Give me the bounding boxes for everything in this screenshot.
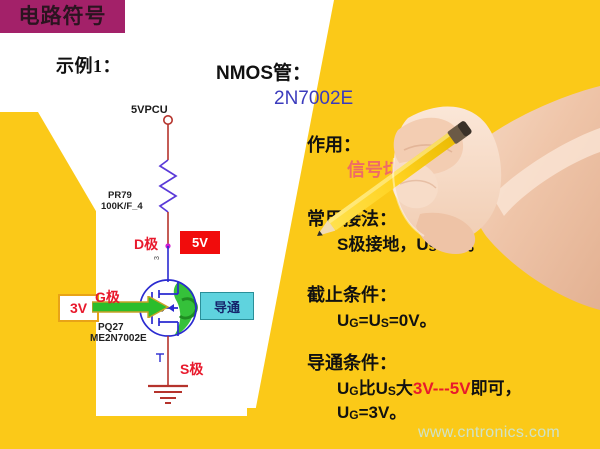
device-title: NMOS管： <box>216 58 311 85</box>
usage-value: S极接地，US=0V。 <box>337 230 484 255</box>
cutoff-tail: =0V。 <box>389 311 437 330</box>
role-heading: 作用： <box>307 131 361 157</box>
on-range-dash: --- <box>433 379 450 398</box>
svg-text:3: 3 <box>154 256 161 260</box>
slide-canvas: 电路符号 示例1： 3 <box>0 0 600 449</box>
drain-terminal-label: D极 <box>134 234 158 254</box>
on-subscript-g: G <box>349 384 358 398</box>
usage-heading: 常用接法： <box>307 205 397 231</box>
cutoff-u2: U <box>369 311 381 330</box>
drain-voltage-badge: 5V <box>180 231 220 254</box>
conduction-state-badge: 导通 <box>200 292 254 320</box>
conduction-heading: 导通条件： <box>307 349 397 375</box>
resistor-ref-label: PR79 <box>108 190 132 201</box>
cutoff-subscript-s: S <box>381 316 389 330</box>
header-badge-label: 电路符号 <box>19 6 107 27</box>
conduction-value-line2: UG=3V。 <box>337 398 406 423</box>
cutoff-value: UG=US=0V。 <box>337 306 437 331</box>
on-range-high: 5V <box>450 379 471 398</box>
drain-voltage-value: 5V <box>192 235 208 250</box>
part-number-label: ME2N7002E <box>90 333 147 344</box>
source-terminal-label: S极 <box>180 359 203 379</box>
net-label-vcc: 5VPCU <box>131 104 168 116</box>
usage-u: U <box>416 235 428 254</box>
header-badge: 电路符号 <box>0 0 125 33</box>
on-mid2: 大 <box>396 379 413 398</box>
cutoff-u1: U <box>337 311 349 330</box>
on2-tail: =3V。 <box>359 403 407 422</box>
on-range-low: 3V <box>413 379 433 398</box>
part-ref-label: PQ27 <box>98 322 124 333</box>
conduction-value-line1: UG比US大3V---5V即可， <box>337 374 522 399</box>
on2-subscript-g: G <box>349 408 358 422</box>
on-mid1: 比 <box>359 379 376 398</box>
on2-u: U <box>337 403 349 422</box>
device-part-number: 2N7002E <box>274 88 353 110</box>
usage-subscript-s: S <box>429 240 437 254</box>
cutoff-subscript-g: G <box>349 316 358 330</box>
on-u2: U <box>376 379 388 398</box>
watermark: www.cntronics.com <box>418 424 560 442</box>
usage-s: S <box>337 235 348 254</box>
conduction-state-value: 导通 <box>214 297 240 316</box>
gate-voltage-value: 3V <box>70 300 87 316</box>
on-u1: U <box>337 379 349 398</box>
example-label: 示例1： <box>56 52 121 78</box>
cutoff-equals: = <box>359 311 369 330</box>
on-subscript-s: S <box>388 384 396 398</box>
usage-mid: 极接地， <box>348 235 416 254</box>
on-tail: 即可， <box>471 379 522 398</box>
role-value: 信号切换（开关） <box>347 156 491 182</box>
resistor-value-label: 100K/F_4 <box>101 201 143 212</box>
gate-terminal-label: G极 <box>95 287 120 307</box>
usage-tail: =0V。 <box>437 235 485 254</box>
cutoff-heading: 截止条件： <box>307 281 397 307</box>
